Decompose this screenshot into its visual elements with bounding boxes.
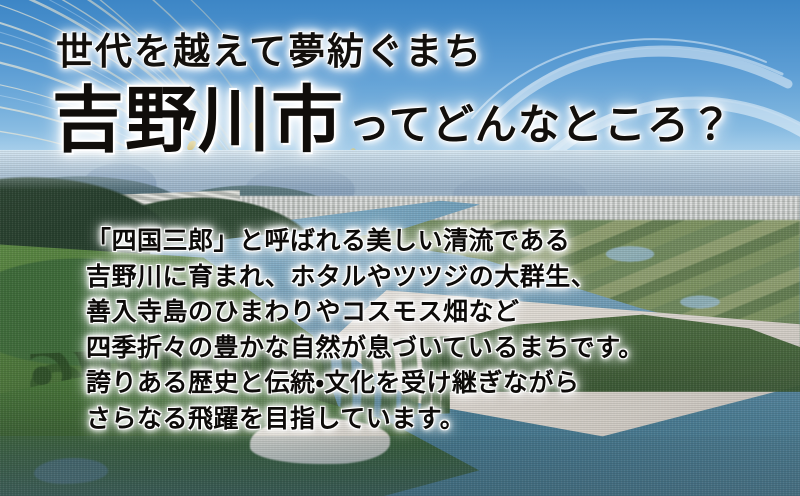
description-text: 「四国三郎」と呼ばれる美しい清流である 吉野川に育まれ、ホタルやツツジの大群生、… bbox=[86, 223, 644, 436]
banner-tagline: 世代を越えて夢紡ぐまち bbox=[56, 26, 483, 76]
description-line: 「四国三郎」と呼ばれる美しい清流である bbox=[86, 223, 644, 259]
banner-title: 吉野川市 ってどんなところ？ bbox=[52, 82, 733, 158]
description-line: 吉野川に育まれ、ホタルやツツジの大群生、 bbox=[86, 259, 644, 295]
description-line: さらなる飛躍を目指しています。 bbox=[86, 401, 644, 437]
city-name: 吉野川市 bbox=[52, 82, 344, 158]
description-line: 誇りある歴史と伝統・文化を受け継ぎながら bbox=[86, 365, 644, 401]
text-layer: 世代を越えて夢紡ぐまち 吉野川市 ってどんなところ？ 「四国三郎」と呼ばれる美し… bbox=[0, 0, 800, 496]
title-suffix: ってどんなところ？ bbox=[344, 96, 733, 158]
yoshinogawa-city-banner: 世代を越えて夢紡ぐまち 吉野川市 ってどんなところ？ 「四国三郎」と呼ばれる美し… bbox=[0, 0, 800, 496]
description-line: 善入寺島のひまわりやコスモス畑など bbox=[86, 294, 644, 330]
description-line: 四季折々の豊かな自然が息づいているまちです。 bbox=[86, 330, 644, 366]
